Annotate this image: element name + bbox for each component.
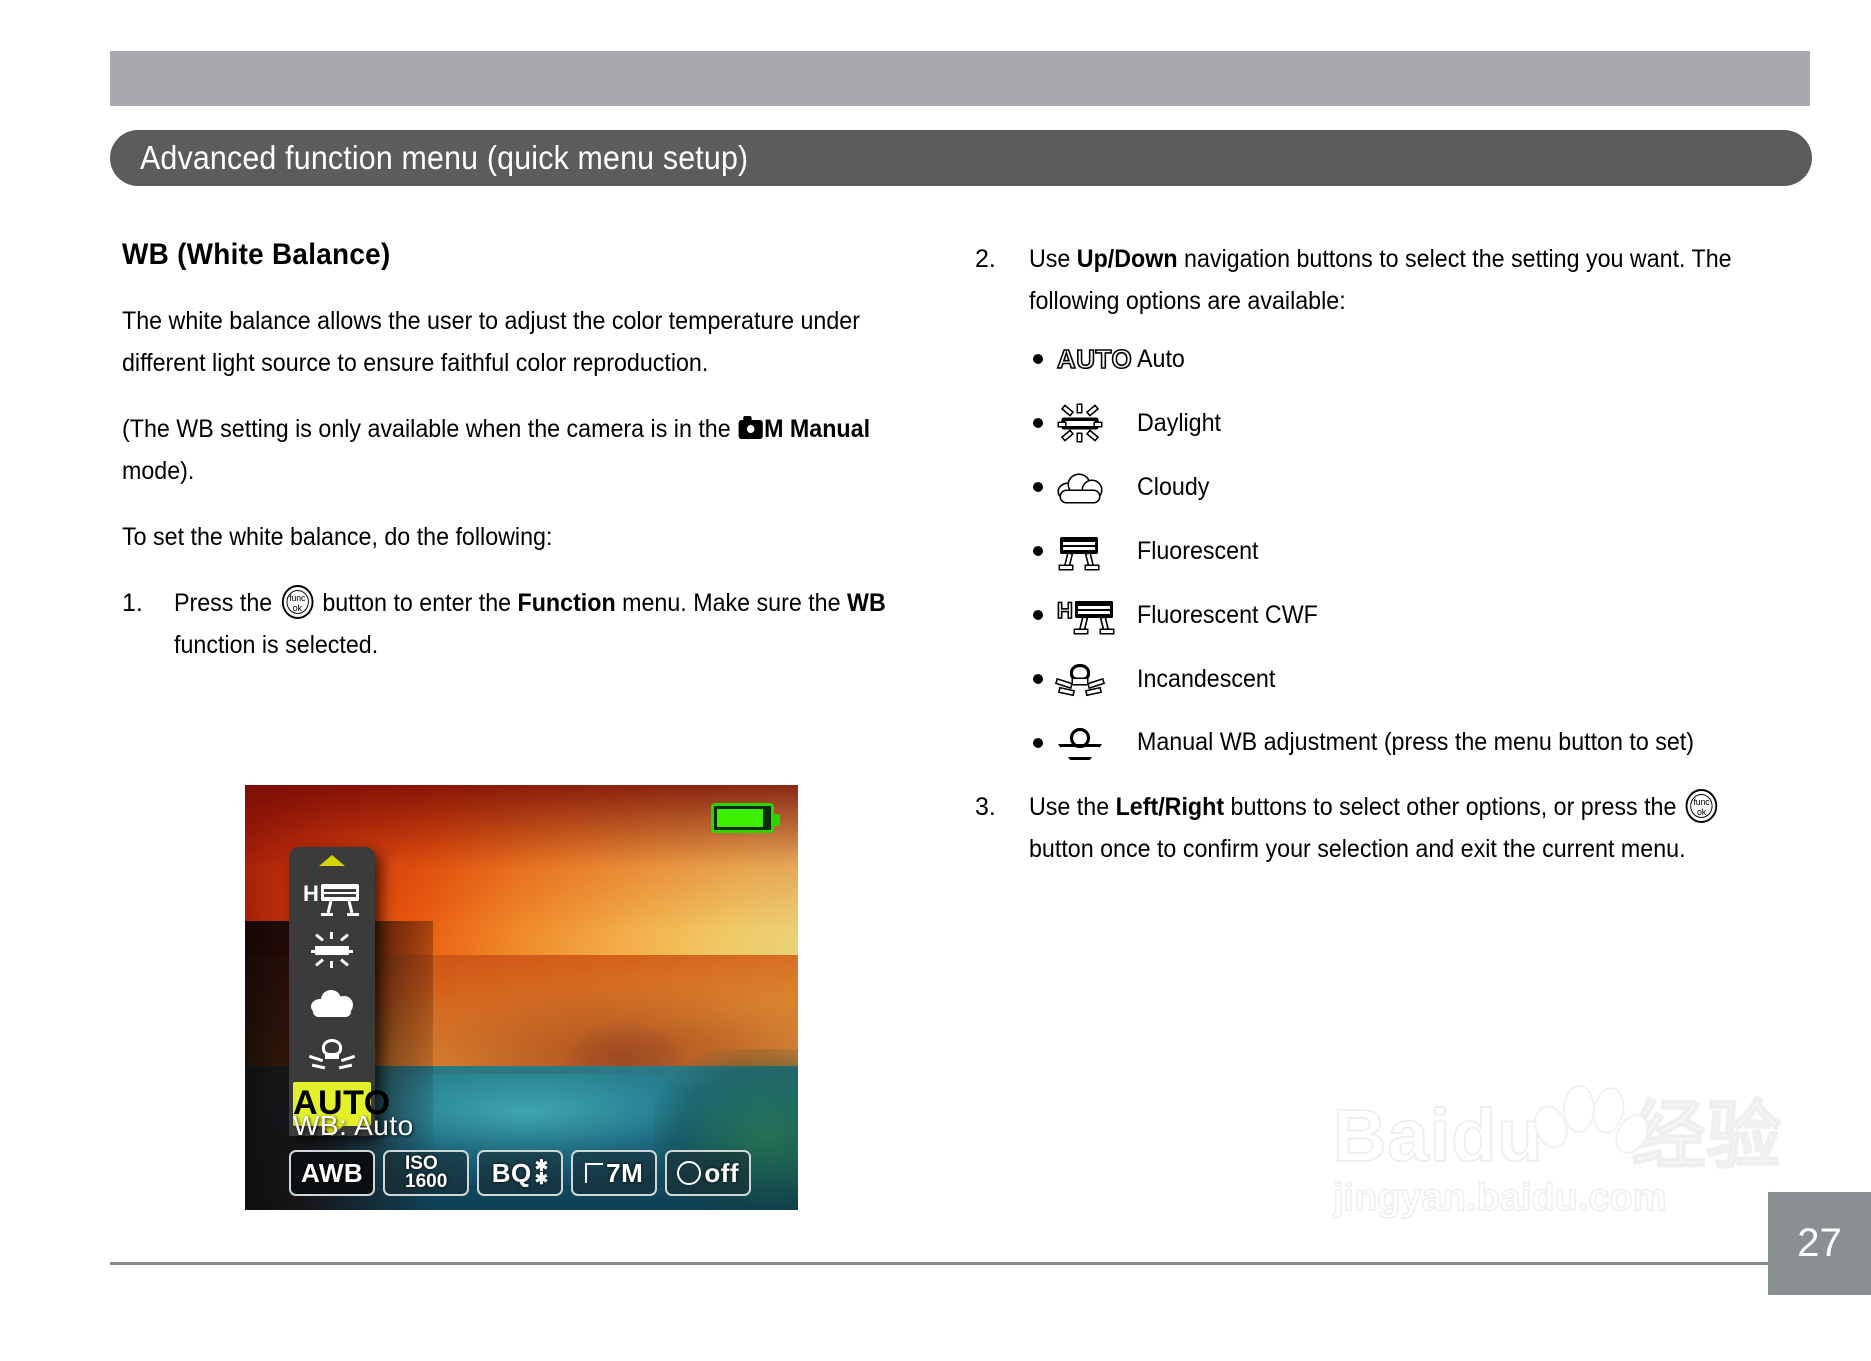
sun-ray: [1063, 406, 1072, 414]
bulb-ray: [1089, 680, 1103, 687]
bullet-dot: [1033, 610, 1043, 620]
tube-foot-right: [1101, 630, 1113, 633]
paw-print-icon: [1529, 1083, 1647, 1187]
paragraph-instructions-lead: To set the white balance, do the followi…: [122, 516, 908, 558]
lcd-menu-item-incandescent[interactable]: [289, 1028, 375, 1080]
watermark-brand-cn: 经验: [1632, 1094, 1782, 1177]
bulb-base: [1073, 679, 1087, 684]
fluorescent-cwf-icon: H: [303, 880, 361, 916]
tube-leg-right: [1087, 554, 1093, 566]
tube-foot-left: [1060, 566, 1072, 569]
sun-ray: [315, 933, 324, 941]
daylight-icon: [1057, 405, 1103, 441]
tube-leg-right: [1102, 618, 1108, 630]
step-1-number: 1.: [122, 582, 166, 624]
wb-option-label: Incandescent: [1137, 665, 1275, 694]
step-1-text-end: function is selected.: [174, 631, 378, 659]
lcd-menu-item-daylight[interactable]: [289, 924, 375, 976]
battery-fill: [717, 809, 763, 827]
paw-toe: [1609, 1108, 1655, 1159]
step-3-text-pre: Use the: [1029, 793, 1116, 821]
daylight-icon-wrap: [1057, 405, 1123, 441]
step-item-1: 1. Press the funcok button to enter the …: [122, 582, 912, 666]
sun-ray: [1078, 405, 1081, 412]
image-size-frame-icon: [585, 1163, 603, 1183]
status-iso-badge[interactable]: ISO 1600: [383, 1150, 469, 1196]
bulb-base: [325, 1054, 339, 1059]
cloudy-icon: [309, 987, 355, 1017]
step-1-bold-function: Function: [518, 589, 616, 617]
tube-foot-left: [321, 913, 333, 916]
step-2-text: Use Up/Down navigation buttons to select…: [1029, 238, 1771, 322]
wb-option-label: Auto: [1137, 345, 1185, 374]
bulb-ray: [309, 1055, 323, 1062]
section-title-bar: Advanced function menu (quick menu setup…: [110, 130, 1812, 186]
step-item-3: 3. Use the Left/Right buttons to select …: [975, 786, 1775, 870]
tube-leg-left: [327, 901, 333, 913]
wb-option-daylight: Daylight: [975, 402, 1775, 444]
tube-foot-right: [347, 913, 359, 916]
page-title: Advanced function menu (quick menu setup…: [140, 139, 748, 177]
tube-leg-left: [1081, 618, 1087, 630]
status-quality-badge[interactable]: BQ ✱✱: [477, 1150, 563, 1196]
top-decorative-bar: [110, 51, 1810, 106]
cloud-base: [1061, 491, 1099, 502]
step-1-text-post: menu. Make sure the: [616, 589, 847, 617]
tube-shape: [321, 884, 359, 901]
bullet-dot: [1033, 674, 1043, 684]
fluorescent-cwf-icon-wrap: H: [1057, 597, 1123, 633]
status-flash-badge[interactable]: off: [665, 1150, 751, 1196]
paragraph-wb-availability-mode: M Manual: [764, 415, 870, 443]
document-page: Advanced function menu (quick menu setup…: [0, 0, 1871, 1361]
fluorescent-icon: [1057, 533, 1101, 569]
step-3-number: 3.: [975, 786, 1021, 828]
sun-ray: [315, 958, 324, 966]
sun-ray: [330, 961, 333, 968]
fluorescent-cwf-h-glyph: H: [1057, 601, 1073, 621]
bulb-ray: [1057, 680, 1071, 687]
bulb-ray: [341, 1055, 355, 1062]
sun-ray: [311, 950, 317, 953]
lcd-wb-status-label: WB: Auto: [293, 1110, 414, 1142]
func-ok-bottom-label: ok: [283, 604, 311, 614]
watermark-logo-text: Baidu经验: [1333, 1097, 1803, 1175]
cloudy-icon: [1057, 472, 1103, 502]
lcd-menu-item-cloudy[interactable]: [289, 976, 375, 1028]
lcd-wb-menu-strip[interactable]: H: [289, 847, 375, 1136]
battery-icon: [711, 803, 774, 833]
bulb-ray: [1087, 689, 1100, 695]
wb-option-label: Fluorescent CWF: [1137, 601, 1318, 630]
daylight-icon: [309, 932, 355, 968]
status-iso-bottom: 1600: [405, 1173, 447, 1191]
wb-option-auto: AUTO Auto: [975, 338, 1775, 380]
wb-option-fluorescent: Fluorescent: [975, 530, 1775, 572]
paragraph-wb-availability-pre: (The WB setting is only available when t…: [122, 415, 737, 443]
auto-icon: AUTO: [1057, 344, 1123, 374]
wb-options-list: AUTO Auto: [975, 338, 1775, 764]
sun-ray: [1088, 406, 1097, 414]
fluorescent-cwf-h-glyph: H: [303, 884, 319, 904]
tube-foot-right: [1086, 566, 1098, 569]
step-3-bold-leftright: Left/Right: [1116, 793, 1224, 821]
page-number-badge: 27: [1768, 1192, 1871, 1295]
sun-ray: [330, 932, 333, 939]
incandescent-icon: [1057, 662, 1103, 696]
tube-foot-left: [1075, 630, 1087, 633]
status-image-size-label: 7M: [606, 1158, 643, 1189]
cloudy-icon-wrap: [1057, 472, 1123, 502]
scroll-up-caret-icon[interactable]: [319, 855, 345, 866]
paragraph-white-balance-description: The white balance allows the user to adj…: [122, 300, 908, 384]
paragraph-wb-availability-post: mode).: [122, 457, 194, 485]
sun-ray: [347, 950, 353, 953]
bullet-dot: [1033, 546, 1043, 556]
step-1-text: Press the funcok button to enter the Fun…: [174, 582, 908, 666]
sun-bar: [315, 946, 349, 955]
sun-ray: [340, 933, 349, 941]
camera-mode-icon: [739, 420, 763, 439]
bulb-ray: [312, 1064, 325, 1070]
step-2-bold-updown: Up/Down: [1077, 245, 1178, 273]
baidu-watermark: Baidu经验 jingyan.baidu.com: [1333, 1097, 1803, 1267]
tube-leg-left: [1066, 554, 1072, 566]
sun-bar: [1063, 419, 1097, 428]
flash-off-icon: [677, 1161, 701, 1185]
step-3-text-mid: buttons to select other options, or pres…: [1224, 793, 1683, 821]
sun-ray: [1078, 434, 1081, 441]
auto-glyph-text: AUTO: [1057, 344, 1132, 374]
quality-stars-icon: ✱✱: [535, 1160, 549, 1186]
sun-ray: [1095, 423, 1101, 426]
bullet-dot: [1033, 738, 1043, 748]
bullet-dot: [1033, 418, 1043, 428]
right-column: 2. Use Up/Down navigation buttons to sel…: [975, 238, 1775, 880]
step-2-text-pre: Use: [1029, 245, 1077, 273]
func-ok-button-icon: funcok: [281, 585, 313, 619]
manual-wb-icon: [1057, 728, 1103, 762]
step-item-2: 2. Use Up/Down navigation buttons to sel…: [975, 238, 1775, 322]
right-steps-list-bottom: 3. Use the Left/Right buttons to select …: [975, 786, 1775, 870]
step-3-text-post: button once to confirm your selection an…: [1029, 835, 1686, 863]
wb-option-fluorescent-cwf: H Fluorescent CWF: [975, 594, 1775, 636]
incandescent-icon: [309, 1037, 355, 1071]
sun-ray: [1088, 431, 1097, 439]
manual-tray-shape: [1058, 744, 1102, 760]
watermark-url: jingyan.baidu.com: [1333, 1177, 1803, 1220]
sun-ray: [340, 958, 349, 966]
paragraph-wb-availability: (The WB setting is only available when t…: [122, 408, 908, 492]
wb-option-label: Manual WB adjustment (press the menu but…: [1137, 722, 1694, 762]
func-ok-button-icon: funcok: [1686, 789, 1718, 823]
step-1-bold-wb: WB: [847, 589, 886, 617]
lcd-status-bar: AWB ISO 1600 BQ ✱✱ 7M off: [289, 1150, 778, 1196]
fluorescent-tube-shape: [1072, 597, 1116, 633]
step-1-text-pre: Press the: [174, 589, 279, 617]
sun-ray: [1063, 431, 1072, 439]
bullet-dot: [1033, 482, 1043, 492]
footer-divider: [110, 1262, 1810, 1265]
sun-ray: [1059, 423, 1065, 426]
bulb-ray: [339, 1064, 352, 1070]
wb-option-cloudy: Cloudy: [975, 466, 1775, 508]
status-awb-badge[interactable]: AWB: [289, 1150, 375, 1196]
status-image-size-badge[interactable]: 7M: [571, 1150, 657, 1196]
func-ok-bottom-label: ok: [1688, 808, 1716, 818]
fluorescent-cwf-icon: H: [1057, 597, 1115, 633]
wb-option-manual: Manual WB adjustment (press the menu but…: [975, 722, 1775, 764]
status-flash-label: off: [704, 1158, 739, 1189]
paw-toe: [1563, 1085, 1595, 1133]
wb-option-incandescent: Incandescent: [975, 658, 1775, 700]
bullet-dot: [1033, 354, 1043, 364]
step-1-text-mid: button to enter the: [316, 589, 518, 617]
left-column: WB (White Balance) The white balance all…: [122, 238, 912, 684]
bulb-ray: [1060, 689, 1073, 695]
step-3-text: Use the Left/Right buttons to select oth…: [1029, 786, 1771, 870]
wb-option-label: Daylight: [1137, 409, 1221, 438]
paw-toe: [1588, 1084, 1628, 1136]
tube-shape: [1075, 601, 1113, 618]
tube-shape: [1060, 537, 1098, 554]
tube-leg-right: [348, 901, 354, 913]
left-steps-list: 1. Press the funcok button to enter the …: [122, 582, 912, 666]
wb-option-label: Cloudy: [1137, 473, 1209, 502]
step-2-number: 2.: [975, 238, 1021, 280]
wb-option-label: Fluorescent: [1137, 537, 1258, 566]
lcd-menu-item-fluorescent-cwf[interactable]: H: [289, 872, 375, 924]
watermark-brand: Baidu: [1333, 1094, 1544, 1177]
right-steps-list-top: 2. Use Up/Down navigation buttons to sel…: [975, 238, 1775, 322]
manual-wb-icon-wrap: [1057, 728, 1123, 762]
cloud-base: [313, 1006, 351, 1017]
section-heading: WB (White Balance): [122, 238, 857, 272]
paw-toe: [1528, 1101, 1573, 1153]
camera-lcd-screenshot: H: [245, 785, 798, 1210]
status-quality-label: BQ: [492, 1158, 532, 1189]
fluorescent-icon-wrap: [1057, 533, 1123, 569]
incandescent-icon-wrap: [1057, 662, 1123, 696]
fluorescent-tube-shape: [318, 880, 362, 916]
